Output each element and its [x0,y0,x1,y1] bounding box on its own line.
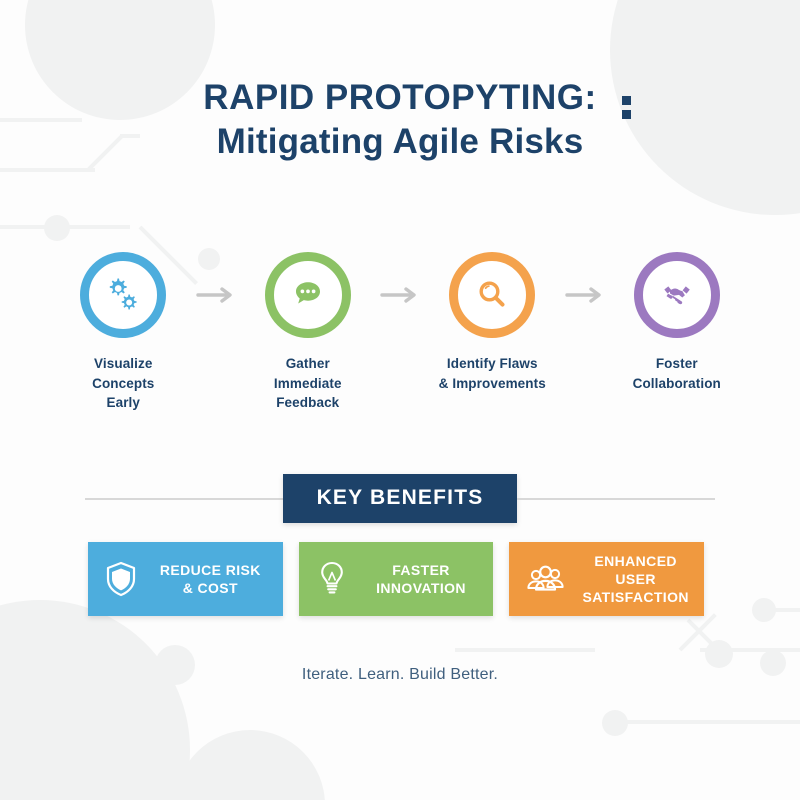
footer-tagline: Iterate. Learn. Build Better. [0,666,800,684]
decor-circuit-line [620,720,800,724]
process-step-identify-flaws[interactable]: Identify Flaws& Improvements [429,252,556,393]
page-title: RAPID PROTOPYTING: Mitigating Agile Risk… [0,78,800,164]
step-icon-ring-blue [80,252,166,338]
speech-bubble-icon [285,272,331,318]
banner-rule-left [85,498,283,500]
benefit-card-label: ENHANCED USERSATISFACTION [577,552,694,607]
step-label: GatherImmediateFeedback [274,354,342,413]
arrow-right-icon [371,286,429,304]
decor-circuit-node [752,598,776,622]
step-label: Identify Flaws& Improvements [439,354,546,393]
decor-circuit-line [760,608,800,612]
lightbulb-icon [315,559,349,599]
people-icon [525,562,567,596]
arrow-right-icon [556,286,614,304]
decor-circuit-diagonal [687,619,722,654]
decor-circuit-line [480,648,540,652]
benefit-card-user-satisfaction[interactable]: ENHANCED USERSATISFACTION [509,542,704,616]
decor-circle-bottom-left-2 [175,730,325,800]
infographic-canvas: RAPID PROTOPYTING: Mitigating Agile Risk… [0,0,800,800]
arrow-right-icon [187,286,245,304]
process-step-visualize-concepts[interactable]: VisualizeConceptsEarly [60,252,187,413]
title-line-1: RAPID PROTOPYTING: [0,78,800,118]
decor-circuit-node [602,710,628,736]
decor-circuit-line [455,648,595,652]
handshake-icon [654,272,700,318]
process-step-foster-collaboration[interactable]: FosterCollaboration [614,252,741,393]
decor-circuit-node [44,215,70,241]
step-icon-ring-orange [449,252,535,338]
decor-circuit-line [700,648,800,652]
shield-icon [104,560,138,598]
key-benefits-label: KEY BENEFITS [283,474,518,523]
process-flow: VisualizeConceptsEarly Gather [60,252,740,413]
benefit-card-reduce-risk[interactable]: REDUCE RISK& COST [88,542,283,616]
decor-circuit-node [705,640,733,668]
benefit-card-label: REDUCE RISK& COST [148,561,273,597]
magnifier-icon [469,272,515,318]
step-label: VisualizeConceptsEarly [92,354,154,413]
benefit-card-faster-innovation[interactable]: FASTERINNOVATION [299,542,494,616]
process-step-gather-feedback[interactable]: GatherImmediateFeedback [245,252,372,413]
step-icon-ring-purple [634,252,720,338]
benefit-card-label: FASTERINNOVATION [359,561,484,597]
gears-icon [100,272,146,318]
banner-rule-right [517,498,715,500]
decor-circuit-line [0,168,95,172]
decor-circle-bottom-left [0,600,190,800]
benefit-cards: REDUCE RISK& COST FASTERINNOVATION [88,542,704,616]
decor-circuit-diagonal [679,613,717,651]
step-label: FosterCollaboration [633,354,721,393]
step-icon-ring-green [265,252,351,338]
title-line-2: Mitigating Agile Risks [0,120,800,164]
key-benefits-banner: KEY BENEFITS [85,474,715,523]
decor-circuit-line [0,225,130,229]
